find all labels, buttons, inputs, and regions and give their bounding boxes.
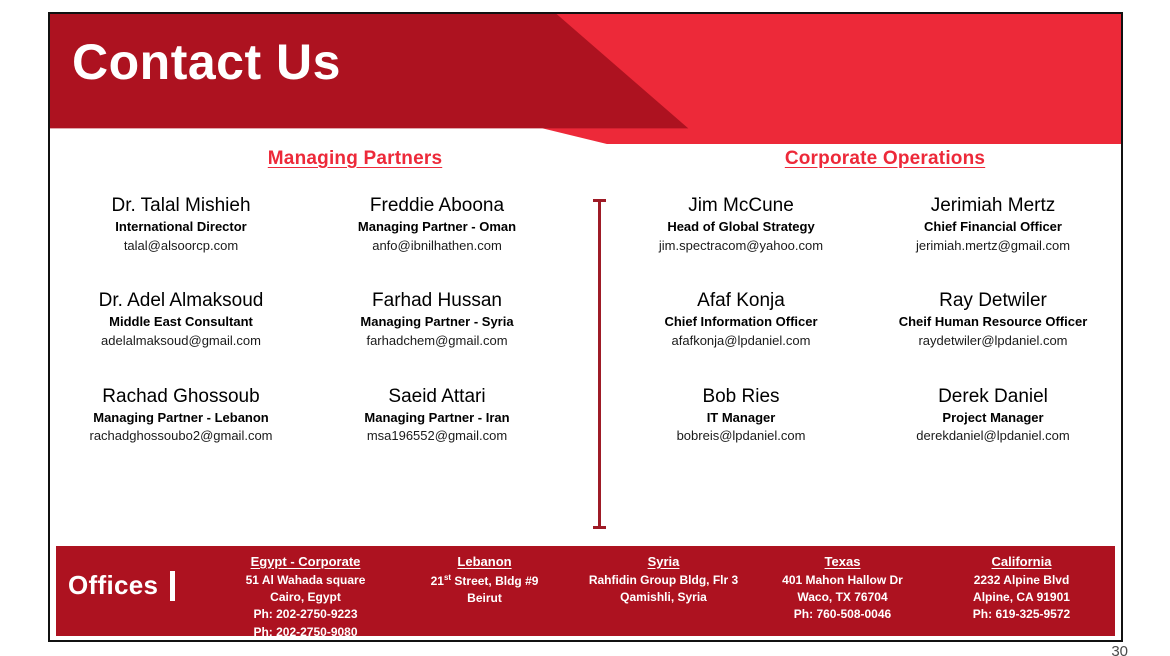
office-address-line: Waco, TX 76704 bbox=[757, 589, 928, 606]
contact-title: Middle East Consultant bbox=[56, 313, 306, 332]
offices-separator-bar bbox=[170, 571, 175, 601]
page-number: 30 bbox=[1111, 643, 1128, 656]
office-address-line: 401 Mahon Hallow Dr bbox=[757, 572, 928, 589]
contact-email[interactable]: msa196552@gmail.com bbox=[312, 427, 562, 446]
office-address-line: Ph: 202-2750-9080 bbox=[220, 624, 391, 641]
slide-canvas: Contact Us Managing Partners Corporate O… bbox=[0, 0, 1170, 656]
contact-name: Bob Ries bbox=[616, 385, 866, 409]
contact-card: Saeid AttariManaging Partner - Iranmsa19… bbox=[312, 385, 562, 446]
office-name: Syria bbox=[578, 552, 749, 572]
section-heading-managing-partners: Managing Partners bbox=[120, 148, 590, 170]
contact-name: Rachad Ghossoub bbox=[56, 385, 306, 409]
contact-title: Project Manager bbox=[868, 409, 1118, 428]
contact-email[interactable]: jim.spectracom@yahoo.com bbox=[616, 237, 866, 256]
contact-column-1: Dr. Talal MishiehInternational Directort… bbox=[56, 194, 306, 480]
office-address-line: Ph: 202-2750-9223 bbox=[220, 606, 391, 623]
contact-title: Chief Information Officer bbox=[616, 313, 866, 332]
page-title: Contact Us bbox=[72, 36, 341, 89]
slide-frame: Contact Us Managing Partners Corporate O… bbox=[48, 12, 1123, 642]
office-address-line: Cairo, Egypt bbox=[220, 589, 391, 606]
office-address-line: Rahfidin Group Bldg, Flr 3 bbox=[578, 572, 749, 589]
contact-title: Head of Global Strategy bbox=[616, 218, 866, 237]
contact-title: International Director bbox=[56, 218, 306, 237]
office-entry: Texas401 Mahon Hallow DrWaco, TX 76704Ph… bbox=[753, 552, 932, 641]
office-name: Egypt - Corporate bbox=[220, 552, 391, 572]
contact-card: Freddie AboonaManaging Partner - Omananf… bbox=[312, 194, 562, 255]
office-address-line: Ph: 619-325-9572 bbox=[936, 606, 1107, 623]
contact-name: Derek Daniel bbox=[868, 385, 1118, 409]
contact-email[interactable]: farhadchem@gmail.com bbox=[312, 332, 562, 351]
contact-email[interactable]: afafkonja@lpdaniel.com bbox=[616, 332, 866, 351]
contact-name: Saeid Attari bbox=[312, 385, 562, 409]
office-name: California bbox=[936, 552, 1107, 572]
contact-email[interactable]: talal@alsoorcp.com bbox=[56, 237, 306, 256]
office-address-line: Alpine, CA 91901 bbox=[936, 589, 1107, 606]
office-address-line: 21st Street, Bldg #9 bbox=[399, 572, 570, 590]
office-name: Lebanon bbox=[399, 552, 570, 572]
contact-email[interactable]: rachadghossoubo2@gmail.com bbox=[56, 427, 306, 446]
office-address-line: 2232 Alpine Blvd bbox=[936, 572, 1107, 589]
offices-label: Offices bbox=[68, 570, 158, 601]
contact-card: Bob RiesIT Managerbobreis@lpdaniel.com bbox=[616, 385, 866, 446]
contact-name: Dr. Adel Almaksoud bbox=[56, 289, 306, 313]
contact-card: Jerimiah MertzChief Financial Officerjer… bbox=[868, 194, 1118, 255]
contact-card: Afaf KonjaChief Information Officerafafk… bbox=[616, 289, 866, 350]
office-address-line: Beirut bbox=[399, 590, 570, 607]
contact-title: Managing Partner - Oman bbox=[312, 218, 562, 237]
section-heading-corporate-operations: Corporate Operations bbox=[650, 148, 1120, 170]
contact-column-3: Jim McCuneHead of Global Strategyjim.spe… bbox=[616, 194, 866, 480]
contacts-grid: Dr. Talal MishiehInternational Directort… bbox=[50, 194, 1121, 544]
contact-name: Freddie Aboona bbox=[312, 194, 562, 218]
contact-email[interactable]: anfo@ibnilhathen.com bbox=[312, 237, 562, 256]
contact-email[interactable]: raydetwiler@lpdaniel.com bbox=[868, 332, 1118, 351]
contact-title: Cheif Human Resource Officer bbox=[868, 313, 1118, 332]
header-banner: Contact Us bbox=[50, 14, 1121, 144]
contact-name: Ray Detwiler bbox=[868, 289, 1118, 313]
office-address-line: 51 Al Wahada square bbox=[220, 572, 391, 589]
offices-list: Egypt - Corporate51 Al Wahada squareCair… bbox=[216, 552, 1111, 641]
contact-card: Farhad HussanManaging Partner - Syriafar… bbox=[312, 289, 562, 350]
contact-title: Managing Partner - Syria bbox=[312, 313, 562, 332]
contact-email[interactable]: derekdaniel@lpdaniel.com bbox=[868, 427, 1118, 446]
office-address-line: Qamishli, Syria bbox=[578, 589, 749, 606]
office-address-line: Ph: 760-508-0046 bbox=[757, 606, 928, 623]
contact-card: Derek DanielProject Managerderekdaniel@l… bbox=[868, 385, 1118, 446]
offices-label-group: Offices bbox=[68, 570, 175, 601]
contact-name: Dr. Talal Mishieh bbox=[56, 194, 306, 218]
contact-card: Dr. Adel AlmaksoudMiddle East Consultant… bbox=[56, 289, 306, 350]
contact-name: Afaf Konja bbox=[616, 289, 866, 313]
contact-title: IT Manager bbox=[616, 409, 866, 428]
contact-name: Jim McCune bbox=[616, 194, 866, 218]
contact-card: Dr. Talal MishiehInternational Directort… bbox=[56, 194, 306, 255]
contact-title: Managing Partner - Lebanon bbox=[56, 409, 306, 428]
office-entry: California2232 Alpine BlvdAlpine, CA 919… bbox=[932, 552, 1111, 641]
contact-card: Ray DetwilerCheif Human Resource Officer… bbox=[868, 289, 1118, 350]
contact-card: Rachad GhossoubManaging Partner - Lebano… bbox=[56, 385, 306, 446]
contact-card: Jim McCuneHead of Global Strategyjim.spe… bbox=[616, 194, 866, 255]
contact-title: Managing Partner - Iran bbox=[312, 409, 562, 428]
contact-email[interactable]: adelalmaksoud@gmail.com bbox=[56, 332, 306, 351]
contact-column-2: Freddie AboonaManaging Partner - Omananf… bbox=[312, 194, 562, 480]
contact-title: Chief Financial Officer bbox=[868, 218, 1118, 237]
office-entry: Egypt - Corporate51 Al Wahada squareCair… bbox=[216, 552, 395, 641]
office-entry: Lebanon21st Street, Bldg #9Beirut bbox=[395, 552, 574, 641]
offices-footer: Offices Egypt - Corporate51 Al Wahada sq… bbox=[56, 546, 1115, 636]
contact-email[interactable]: bobreis@lpdaniel.com bbox=[616, 427, 866, 446]
contact-email[interactable]: jerimiah.mertz@gmail.com bbox=[868, 237, 1118, 256]
contact-name: Jerimiah Mertz bbox=[868, 194, 1118, 218]
office-entry: SyriaRahfidin Group Bldg, Flr 3Qamishli,… bbox=[574, 552, 753, 641]
contact-name: Farhad Hussan bbox=[312, 289, 562, 313]
office-name: Texas bbox=[757, 552, 928, 572]
contact-column-4: Jerimiah MertzChief Financial Officerjer… bbox=[868, 194, 1118, 480]
